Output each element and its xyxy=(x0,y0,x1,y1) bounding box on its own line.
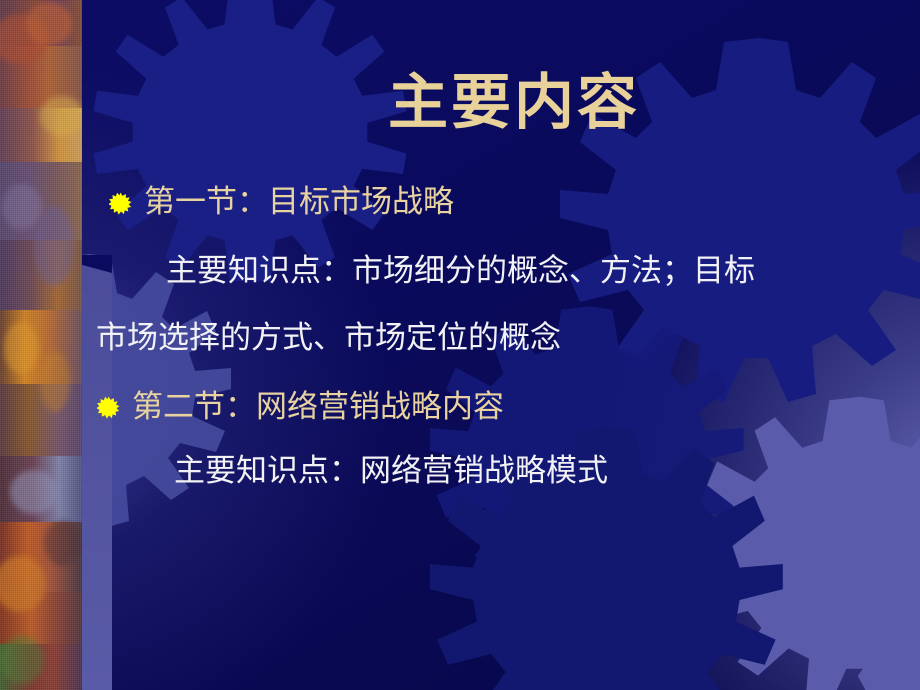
sub-line-3: 主要知识点：网络营销战略模式 xyxy=(174,455,920,488)
spacer-4 xyxy=(108,423,920,455)
spacer-3 xyxy=(108,355,920,391)
bullet-item-2[interactable]: 第二节：网络营销战略内容 xyxy=(96,391,920,424)
spacer-1 xyxy=(108,219,920,255)
bullet-item-1[interactable]: 第一节：目标市场战略 xyxy=(108,186,920,219)
gear-shape-far-right xyxy=(845,560,920,690)
bullet-item-2-label: 第二节：网络营销战略内容 xyxy=(132,391,504,424)
spacer-2 xyxy=(108,287,920,322)
presentation-slide: 主要内容 第一节：目标市场战略 主要知识点：市场细分的概念、方法；目标 市场选择… xyxy=(0,0,920,690)
slide-body: 第一节：目标市场战略 主要知识点：市场细分的概念、方法；目标 市场选择的方式、市… xyxy=(108,186,920,488)
starburst-icon xyxy=(109,192,132,215)
sub-line-1: 主要知识点：市场细分的概念、方法；目标 xyxy=(166,255,920,288)
bullet-item-1-label: 第一节：目标市场战略 xyxy=(144,186,454,219)
slide-title: 主要内容 xyxy=(0,72,920,135)
starburst-icon xyxy=(97,396,120,419)
sub-line-2: 市场选择的方式、市场定位的概念 xyxy=(96,322,920,355)
